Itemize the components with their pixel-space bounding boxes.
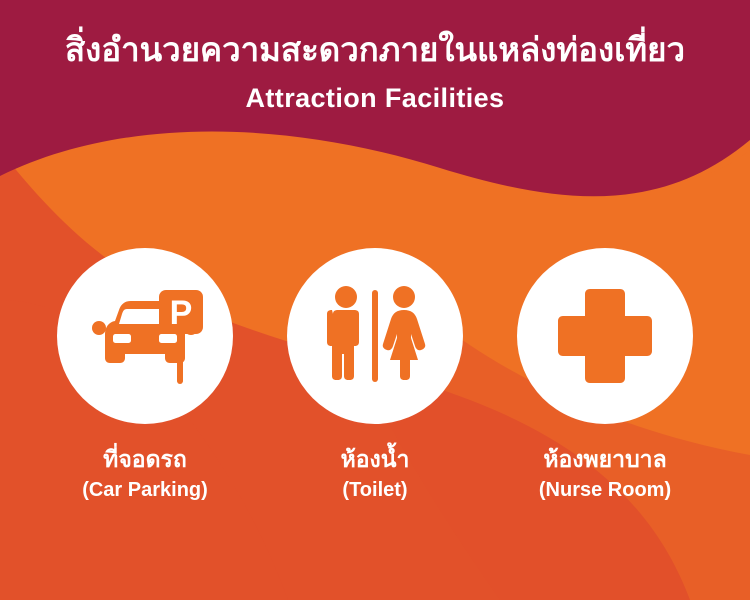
facility-card-toilet[interactable]: ห้องน้ำ (Toilet) [283, 248, 467, 502]
facility-label-english: (Nurse Room) [539, 478, 671, 502]
facility-label-english: (Toilet) [342, 478, 407, 502]
woman-head [393, 286, 415, 308]
toilet-divider [372, 290, 378, 382]
facility-label-english: (Car Parking) [82, 478, 208, 502]
woman-body [383, 310, 426, 380]
facilities-list: ที่จอดรถ (Car Parking) [0, 248, 750, 538]
facility-label-thai: ห้องพยาบาล [543, 446, 666, 472]
facility-icon-circle-nurse-room [517, 248, 693, 424]
car-headlight-left [113, 334, 131, 343]
page-title-english: Attraction Facilities [0, 82, 750, 114]
man-body [327, 310, 359, 380]
facility-card-nurse-room[interactable]: ห้องพยาบาล (Nurse Room) [513, 248, 697, 502]
cross-shape [558, 289, 652, 383]
medical-cross-icon [550, 281, 660, 391]
man-head [335, 286, 357, 308]
facility-label-thai: ห้องน้ำ [341, 446, 410, 472]
parking-sign-letter: P [170, 294, 193, 332]
attraction-facilities-infographic: สิ่งอำนวยความสะดวกภายในแหล่งท่องเที่ยว A… [0, 0, 750, 600]
toilet-icon [319, 280, 431, 392]
parking-sign-icon: P [155, 288, 213, 386]
page-title-thai: สิ่งอำนวยความสะดวกภายในแหล่งท่องเที่ยว [0, 31, 750, 69]
facility-label-thai: ที่จอดรถ [103, 446, 187, 472]
facility-icon-circle-toilet [287, 248, 463, 424]
header: สิ่งอำนวยความสะดวกภายในแหล่งท่องเที่ยว A… [0, 0, 750, 114]
